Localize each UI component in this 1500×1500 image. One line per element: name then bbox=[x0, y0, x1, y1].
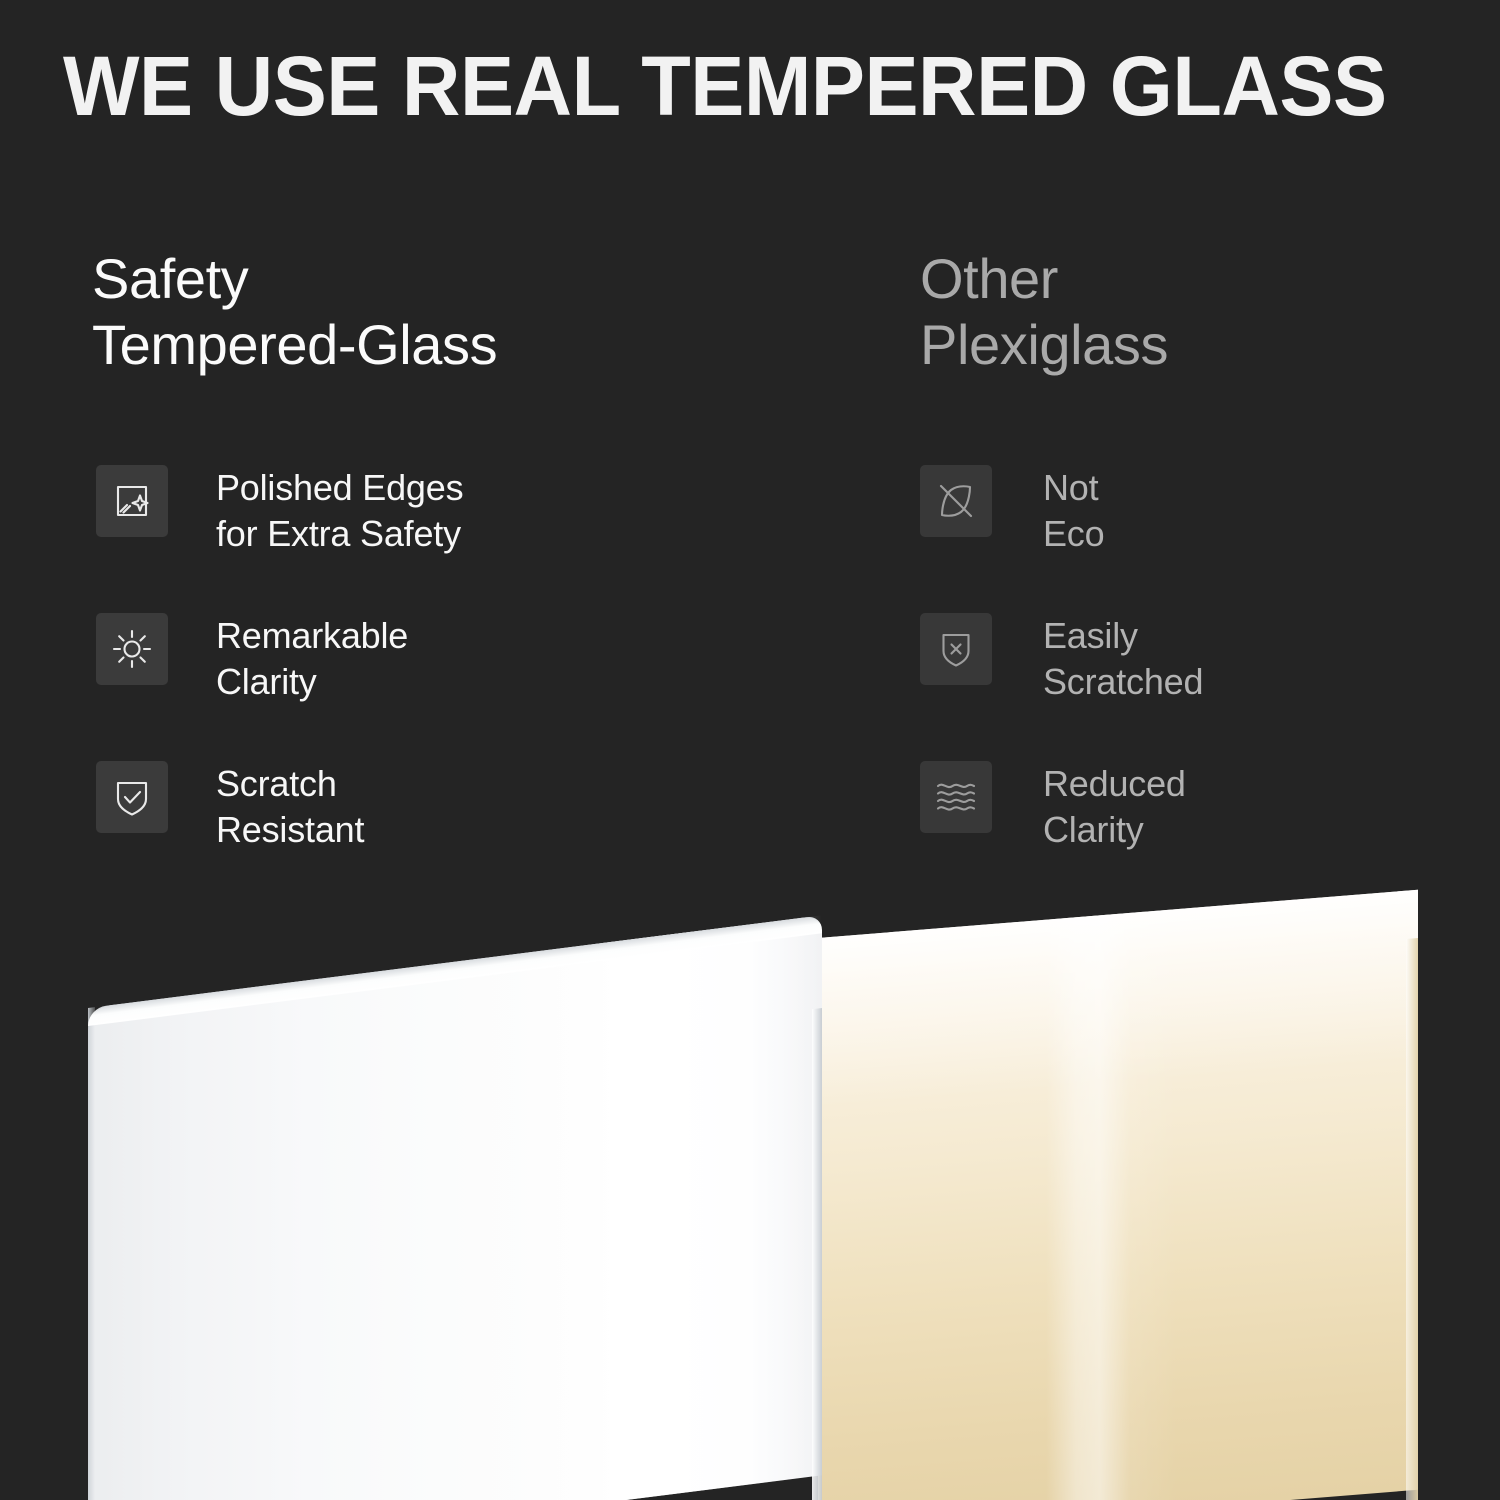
plexiglass-panel bbox=[818, 860, 1418, 1500]
tempered-glass-right-edge bbox=[812, 1008, 822, 1500]
feature-row-polished-edges: Polished Edges for Extra Safety bbox=[96, 465, 463, 613]
page-title: WE USE REAL TEMPERED GLASS bbox=[63, 40, 1414, 132]
wavy-lines-icon bbox=[920, 761, 992, 833]
feature-row-remarkable-clarity: Remarkable Clarity bbox=[96, 613, 463, 761]
feature-label-not-eco: Not Eco bbox=[1043, 465, 1104, 557]
feature-label-polished-edges: Polished Edges for Extra Safety bbox=[216, 465, 463, 557]
feature-label-remarkable-clarity: Remarkable Clarity bbox=[216, 613, 408, 705]
feature-row-not-eco: Not Eco bbox=[920, 465, 1203, 613]
column-right: Other Plexiglass bbox=[920, 246, 1480, 378]
feature-list-plexiglass: Not Eco Easily Scratched bbox=[920, 465, 1203, 909]
column-right-title: Other Plexiglass bbox=[920, 246, 1480, 378]
feature-label-easily-scratched: Easily Scratched bbox=[1043, 613, 1203, 705]
shield-check-icon bbox=[96, 761, 168, 833]
sun-brightness-icon bbox=[96, 613, 168, 685]
feature-row-easily-scratched: Easily Scratched bbox=[920, 613, 1203, 761]
feature-list-tempered-glass: Polished Edges for Extra Safety Remarkab… bbox=[96, 465, 463, 909]
feature-label-reduced-clarity: Reduced Clarity bbox=[1043, 761, 1186, 853]
column-left-title: Safety Tempered-Glass bbox=[92, 246, 792, 378]
polished-edge-sparkle-icon bbox=[96, 465, 168, 537]
infographic-canvas: WE USE REAL TEMPERED GLASS Safety Temper… bbox=[0, 0, 1500, 1500]
column-left: Safety Tempered-Glass bbox=[92, 246, 792, 378]
tempered-glass-panel bbox=[88, 860, 822, 1500]
plexiglass-right-edge bbox=[1406, 938, 1418, 1500]
product-image-area bbox=[0, 860, 1500, 1500]
leaf-slash-icon bbox=[920, 465, 992, 537]
feature-label-scratch-resistant: Scratch Resistant bbox=[216, 761, 364, 853]
shield-x-icon bbox=[920, 613, 992, 685]
tempered-glass-left-edge bbox=[88, 1007, 95, 1500]
